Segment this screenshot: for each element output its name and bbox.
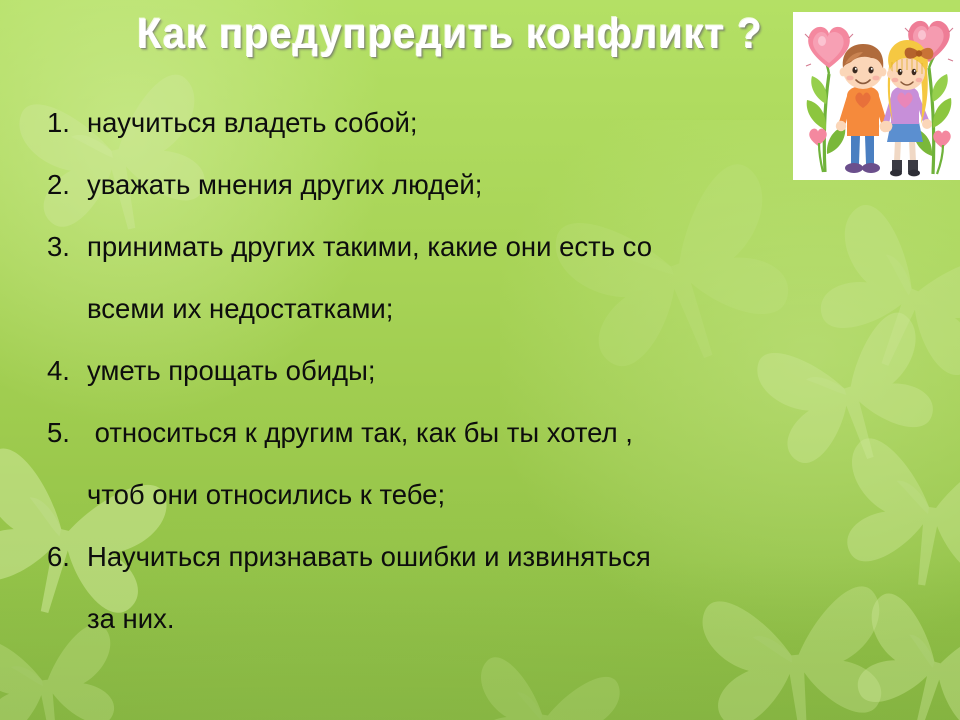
list-item-number: 1. bbox=[47, 92, 87, 154]
list-item: 4.уметь прощать обиды; bbox=[0, 340, 930, 402]
list-item-number: 4. bbox=[47, 340, 87, 402]
list-item-text-continuation: за них. bbox=[87, 588, 930, 650]
list-item: 5. относиться к другим так, как бы ты хо… bbox=[0, 402, 930, 526]
slide: Как предупредить конфликт ? 1.научиться … bbox=[0, 0, 960, 720]
list-item-number: 6. bbox=[47, 526, 87, 588]
list-item-number: 3. bbox=[47, 216, 87, 278]
list-item-text: Научиться признавать ошибки и извиняться bbox=[87, 526, 930, 588]
list-item-text: уметь прощать обиды; bbox=[87, 340, 930, 402]
list-item-text: уважать мнения других людей; bbox=[87, 154, 930, 216]
page-title: Как предупредить конфликт ? bbox=[32, 8, 869, 60]
list-item-text: относиться к другим так, как бы ты хотел… bbox=[87, 402, 930, 464]
list-item-text: научиться владеть собой; bbox=[87, 92, 930, 154]
list-item-number: 5. bbox=[47, 402, 87, 464]
list-item-text-continuation: чтоб они относились к тебе; bbox=[87, 464, 930, 526]
list-item: 2.уважать мнения других людей; bbox=[0, 154, 930, 216]
list-item: 3.принимать других такими, какие они ест… bbox=[0, 216, 930, 340]
list-item-number: 2. bbox=[47, 154, 87, 216]
list-item-text-continuation: всеми их недостатками; bbox=[87, 278, 930, 340]
list-item-text: принимать других такими, какие они есть … bbox=[87, 216, 930, 278]
list-item: 1.научиться владеть собой; bbox=[0, 92, 930, 154]
advice-list: 1.научиться владеть собой;2.уважать мнен… bbox=[0, 92, 930, 650]
list-item: 6.Научиться признавать ошибки и извинять… bbox=[0, 526, 930, 650]
